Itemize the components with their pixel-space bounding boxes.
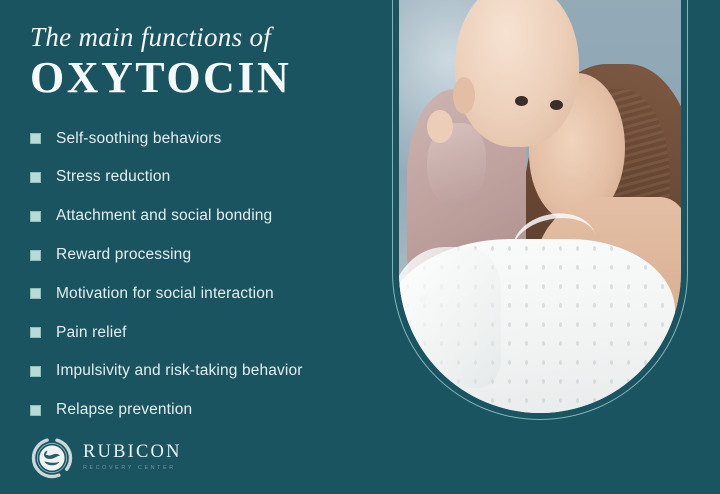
bullet-square-icon [30, 133, 41, 144]
list-item-label: Self-soothing behaviors [56, 130, 221, 148]
baby-head [455, 0, 579, 147]
list-item-label: Stress reduction [56, 168, 170, 186]
photo-frame [392, 0, 688, 420]
logo-name: RUBICON [83, 443, 182, 462]
list-item-label: Relapse prevention [56, 401, 192, 419]
page-title: OXYTOCIN [30, 55, 374, 101]
baby-eye-left [515, 96, 528, 107]
list-item: Reward processing [30, 236, 374, 275]
title-block: The main functions of OXYTOCIN [30, 22, 374, 101]
bullet-square-icon [30, 288, 41, 299]
logo-wordmark: RUBICON RECOVERY CENTER [83, 443, 182, 473]
list-item-label: Impulsivity and risk-taking behavior [56, 362, 303, 380]
baby-ear [453, 77, 476, 114]
list-item: Impulsivity and risk-taking behavior [30, 352, 374, 391]
mother-and-baby-photo [399, 0, 681, 413]
functions-list: Self-soothing behaviors Stress reduction… [30, 119, 374, 429]
content-panel: The main functions of OXYTOCIN Self-soot… [0, 0, 392, 494]
bullet-square-icon [30, 405, 41, 416]
fabric-fold [399, 247, 501, 388]
list-item: Relapse prevention [30, 391, 374, 430]
list-item: Self-soothing behaviors [30, 119, 374, 158]
list-item: Attachment and social bonding [30, 197, 374, 236]
list-item-label: Reward processing [56, 246, 191, 264]
bullet-square-icon [30, 211, 41, 222]
bullet-square-icon [30, 366, 41, 377]
list-item: Stress reduction [30, 158, 374, 197]
brand-logo: RUBICON RECOVERY CENTER [30, 436, 182, 480]
oxytocin-infographic: The main functions of OXYTOCIN Self-soot… [0, 0, 720, 494]
bullet-square-icon [30, 327, 41, 338]
bullet-square-icon [30, 172, 41, 183]
baby-hand [427, 110, 452, 143]
eyebrow-text: The main functions of [30, 22, 374, 53]
list-item-label: Attachment and social bonding [56, 207, 272, 225]
list-item: Pain relief [30, 313, 374, 352]
logo-tagline: RECOVERY CENTER [83, 466, 182, 471]
bullet-square-icon [30, 250, 41, 261]
list-item: Motivation for social interaction [30, 274, 374, 313]
list-item-label: Motivation for social interaction [56, 285, 274, 303]
rubicon-crest-icon [30, 436, 74, 480]
list-item-label: Pain relief [56, 324, 127, 342]
